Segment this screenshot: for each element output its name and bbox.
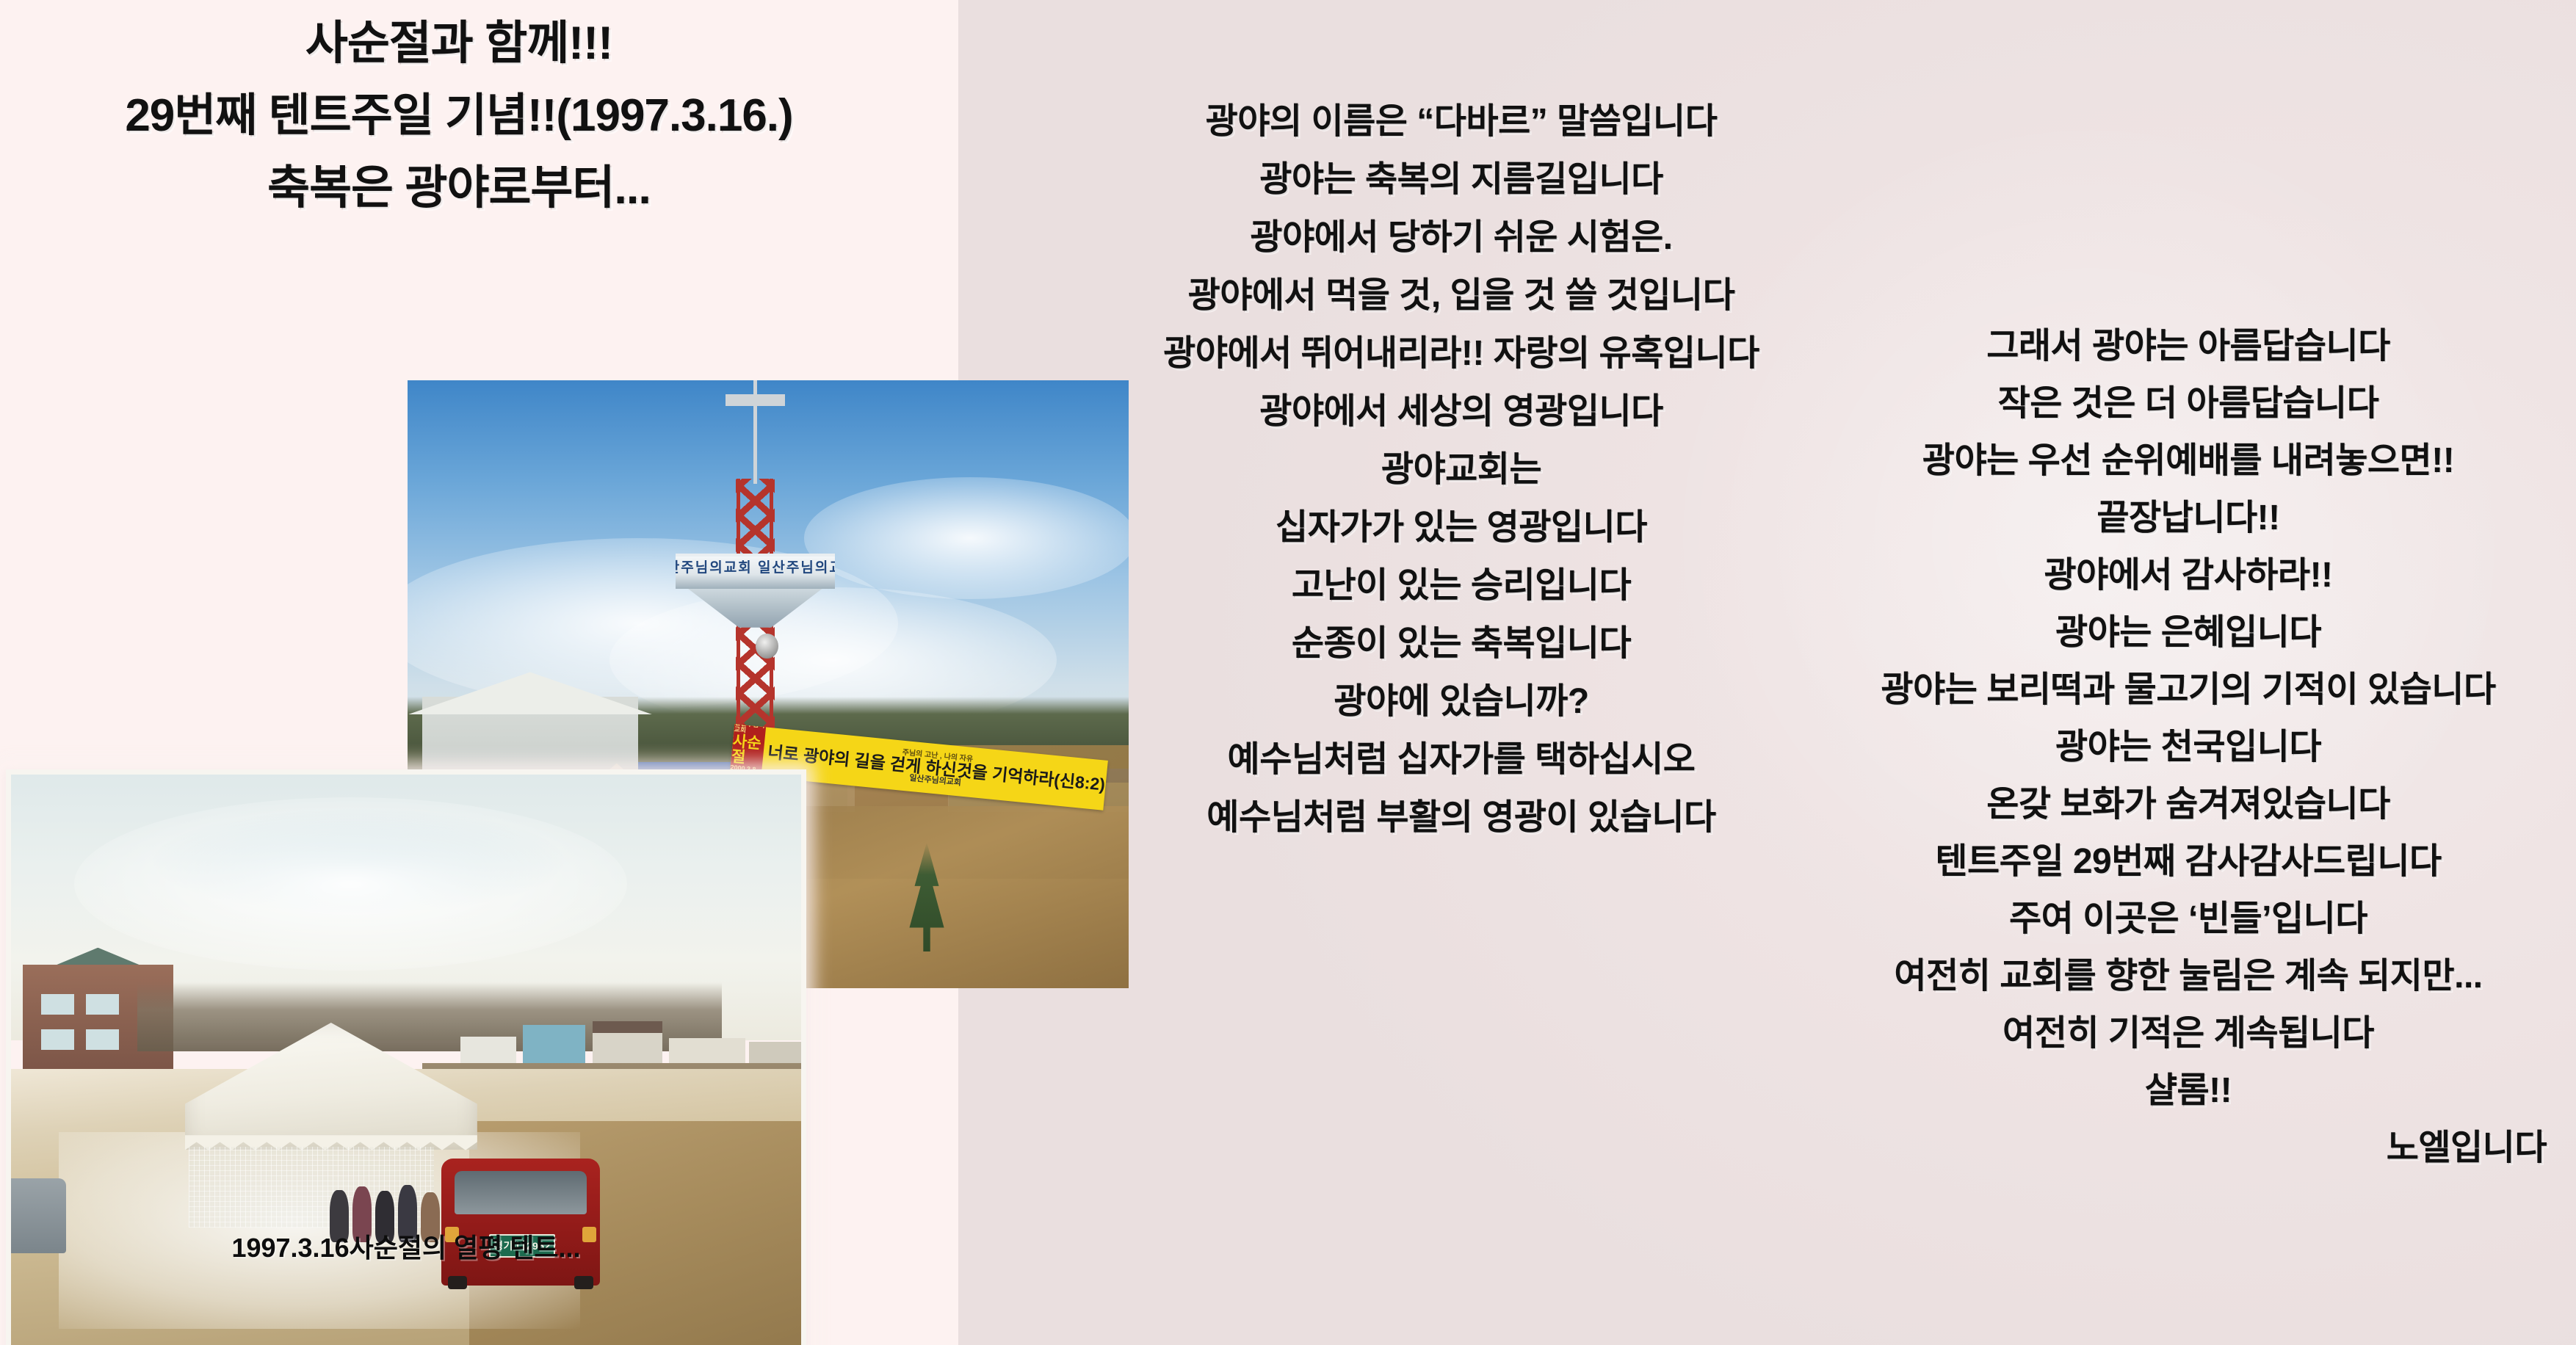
verse-line: 광야는 보리떡과 물고기의 기적이 있습니다 bbox=[1806, 672, 2570, 708]
title-line-2: 29번째 텐트주일 기념!!(1997.3.16.) bbox=[0, 93, 918, 139]
cloud-icon bbox=[804, 477, 1129, 599]
verse-line: 광야는 천국입니다 bbox=[1806, 730, 2570, 765]
page-title: 사순절과 함께!!! 29번째 텐트주일 기념!!(1997.3.16.) 축복… bbox=[0, 21, 918, 238]
verse-line: 광야에 있습니까? bbox=[1094, 684, 1828, 719]
verse-line: 고난이 있는 승리입니다 bbox=[1094, 568, 1828, 603]
verse-line: 여전히 교회를 향한 눌림은 계속 되지만... bbox=[1806, 959, 2570, 994]
photo-caption: 1997.3.16사순절의 열평 텐트... bbox=[11, 1227, 801, 1265]
verse-line: 광야는 은혜입니다 bbox=[1806, 615, 2570, 650]
window bbox=[86, 994, 119, 1015]
window bbox=[41, 1029, 74, 1050]
verse-line: 광야에서 당하기 쉬운 시험은. bbox=[1094, 220, 1828, 255]
tower-signage-platform: 일산주님의교회 일산주님의교회 bbox=[676, 554, 835, 589]
verse-line: 광야에서 뛰어내리라!! 자랑의 유혹입니다 bbox=[1094, 336, 1828, 371]
banner-red-main: 사순절 bbox=[731, 733, 765, 767]
banner-red-section: 일산주님의교회 사순절 2000.3.8.~ 4.23 bbox=[730, 724, 766, 777]
verse-line: 광야는 축복의 지름길입니다 bbox=[1094, 162, 1828, 197]
verse-line: 온갖 보화가 숨겨져있습니다 bbox=[1806, 787, 2570, 822]
verse-line: 여전히 기적은 계속됩니다 bbox=[1806, 1016, 2570, 1051]
title-line-3: 축복은 광야로부터... bbox=[0, 165, 918, 211]
loudspeaker-icon bbox=[756, 634, 778, 659]
slide-canvas: 사순절과 함께!!! 29번째 텐트주일 기념!!(1997.3.16.) 축복… bbox=[0, 0, 2576, 1345]
verse-line: 예수님처럼 십자가를 택하십시오 bbox=[1094, 742, 1828, 777]
verse-line: 순종이 있는 축복입니다 bbox=[1094, 626, 1828, 661]
verse-line: 광야에서 세상의 영광입니다 bbox=[1094, 394, 1828, 429]
house-roof bbox=[593, 1021, 662, 1033]
cross-icon bbox=[726, 394, 785, 406]
red-car: 경기 나2952 bbox=[441, 1159, 599, 1286]
verse-line: 예수님처럼 부활의 영광이 있습니다 bbox=[1094, 800, 1828, 835]
verse-line: 끝장납니다!! bbox=[1806, 501, 2570, 536]
verse-line: 작은 것은 더 아름답습니다 bbox=[1806, 386, 2570, 421]
verse-line: 광야에서 감사하라!! bbox=[1806, 558, 2570, 593]
verse-line: 광야의 이름은 “다바르” 말씀입니다 bbox=[1094, 104, 1828, 139]
signature: 노엘입니다 bbox=[1806, 1131, 2570, 1166]
verse-line: 주여 이곳은 ‘빈들’입니다 bbox=[1806, 902, 2570, 937]
verse-line: 십자가가 있는 영광입니다 bbox=[1094, 510, 1828, 545]
verse-line: 광야교회는 bbox=[1094, 452, 1828, 487]
verse-line: 샬롬!! bbox=[1806, 1073, 2570, 1109]
verse-line: 광야에서 먹을 것, 입을 것 쓸 것입니다 bbox=[1094, 278, 1828, 313]
title-line-1: 사순절과 함께!!! bbox=[0, 21, 918, 67]
window bbox=[41, 994, 74, 1015]
car-rear-window bbox=[455, 1171, 587, 1214]
verse-line: 텐트주일 29번째 감사감사드립니다 bbox=[1806, 844, 2570, 880]
wheel bbox=[448, 1276, 467, 1288]
right-text-column: 그래서 광야는 아름답습니다 작은 것은 더 아름답습니다 광야는 우선 순위예… bbox=[1806, 329, 2570, 1188]
window bbox=[86, 1029, 119, 1050]
verse-line: 광야는 우선 순위예배를 내려놓으면!! bbox=[1806, 443, 2570, 479]
verse-line: 그래서 광야는 아름답습니다 bbox=[1806, 329, 2570, 364]
middle-text-column: 광야의 이름은 “다바르” 말씀입니다 광야는 축복의 지름길입니다 광야에서 … bbox=[1094, 104, 1828, 858]
tower-signage-text: 일산주님의교회 일산주님의교회 bbox=[676, 557, 835, 576]
tent-worship-field-photo: 경기 나2952 1997.3.16사순절의 열평 텐트... bbox=[6, 769, 806, 1345]
wheel bbox=[574, 1276, 593, 1288]
cloud-icon bbox=[74, 797, 627, 971]
